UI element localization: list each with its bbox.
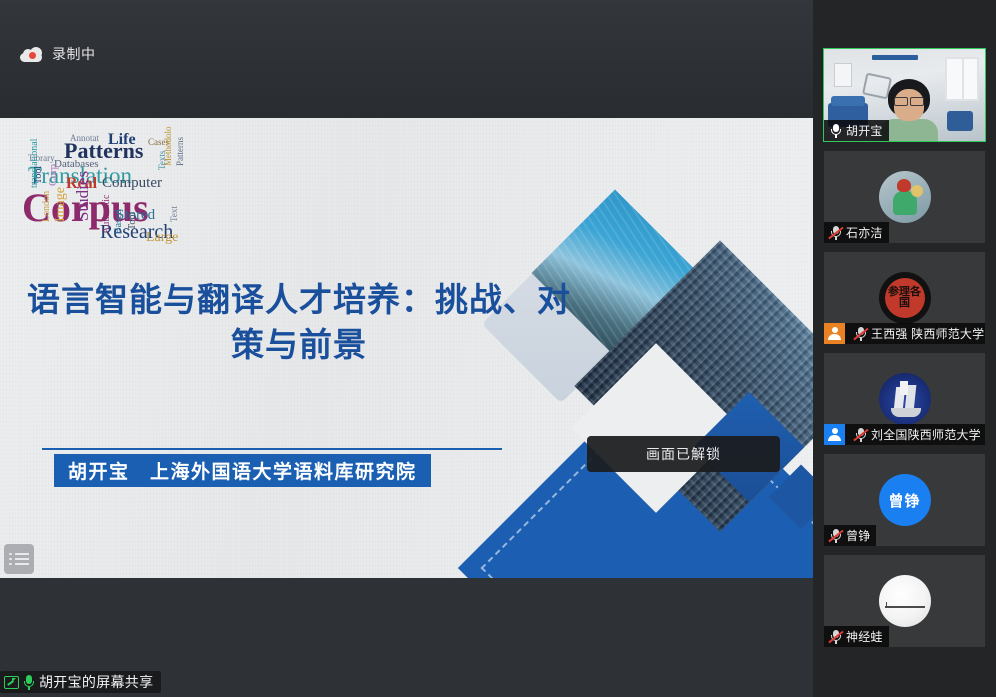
microphone-muted-icon <box>829 225 842 240</box>
wordcloud-word: Corp <box>48 164 59 186</box>
cloud-record-icon <box>20 47 42 62</box>
presentation-slide: CorpusTranslationPatternsResearchRealCom… <box>0 118 813 578</box>
participant-tile[interactable]: 参理各国 王西强 陕西师范大学 <box>824 252 985 344</box>
participant-avatar <box>879 171 931 223</box>
screen-share-status-bar: 胡开宝的屏幕共享 <box>0 671 161 693</box>
wordcloud-word: Studies <box>74 171 91 221</box>
wordcloud-word: London <box>42 191 52 222</box>
wordcloud-word: Annotat <box>70 134 99 143</box>
wordcloud-word: Computer <box>102 176 162 191</box>
participant-avatar <box>879 373 931 425</box>
seal-avatar-text: 参理各国 <box>885 287 925 309</box>
participant-tile[interactable]: 石亦洁 <box>824 151 985 243</box>
screen-share-label: 胡开宝的屏幕共享 <box>39 672 153 692</box>
participant-tile[interactable]: 胡开宝 <box>824 49 985 141</box>
participant-name: 石亦洁 <box>846 224 883 241</box>
participant-name-bar: 石亦洁 <box>824 222 889 243</box>
avatar-initials: 曾铮 <box>888 490 920 511</box>
participant-name: 曾铮 <box>846 527 870 544</box>
slide-title: 语言智能与翻译人才培养：挑战、对策与前景 <box>14 278 584 367</box>
list-outline-icon <box>9 551 29 567</box>
participant-tile[interactable]: 曾铮 曾铮 <box>824 454 985 546</box>
presenter-divider <box>42 448 502 450</box>
wordcloud-word: Life <box>108 132 136 148</box>
wordcloud-word: Patterns <box>176 137 185 166</box>
microphone-icon <box>23 675 35 690</box>
microphone-muted-icon <box>829 528 842 543</box>
microphone-muted-icon <box>829 629 842 644</box>
participant-name: 胡开宝 <box>846 122 883 139</box>
slide-outline-button[interactable] <box>4 544 34 574</box>
microphone-muted-icon <box>854 427 867 442</box>
screen-unlocked-toast: 画面已解锁 <box>587 436 780 472</box>
participant-avatar: 参理各国 <box>879 272 931 324</box>
wordcloud-word: Tool <box>128 212 138 230</box>
microphone-on-icon <box>829 123 842 138</box>
corpus-word-cloud: CorpusTranslationPatternsResearchRealCom… <box>18 126 213 266</box>
participant-tile[interactable]: 刘全国陕西师范大学 <box>824 353 985 445</box>
bottom-letterbox-area: 胡开宝的屏幕共享 <box>0 578 813 697</box>
host-badge-icon <box>824 424 845 445</box>
screen-share-icon <box>4 676 19 689</box>
wordcloud-word: Large <box>146 231 178 245</box>
wordcloud-word: Authentic <box>102 195 112 234</box>
participant-tile[interactable]: 神经蛙 <box>824 555 985 647</box>
meeting-window: 录制中 CorpusTranslationPatternsResearchRea… <box>0 0 996 697</box>
cohost-badge-icon <box>824 323 845 344</box>
wordcloud-word: Databases <box>54 159 99 170</box>
recording-label: 录制中 <box>52 44 96 64</box>
participant-name: 王西强 陕西师范大学 <box>871 325 984 342</box>
microphone-muted-icon <box>854 326 867 341</box>
shared-screen-area[interactable]: CorpusTranslationPatternsResearchRealCom… <box>0 118 813 578</box>
participant-name-bar: 神经蛙 <box>824 626 889 647</box>
wordcloud-word: Text <box>170 206 179 222</box>
participant-name: 刘全国陕西师范大学 <box>871 426 981 443</box>
recording-indicator[interactable]: 录制中 <box>20 44 96 64</box>
participant-avatar <box>879 575 931 627</box>
participant-name: 神经蛙 <box>846 628 883 645</box>
participant-avatar: 曾铮 <box>879 474 931 526</box>
wordcloud-word: Tool <box>34 166 44 184</box>
participant-name-bar: 曾铮 <box>824 525 876 546</box>
participant-name-bar: 胡开宝 <box>824 120 889 141</box>
top-bar: 录制中 <box>0 0 813 118</box>
participant-name-bar: 刘全国陕西师范大学 <box>824 424 985 445</box>
presenter-banner: 胡开宝 上海外国语大学语料库研究院 <box>54 454 431 487</box>
wordcloud-word: Texts <box>158 151 167 170</box>
participant-name-bar: 王西强 陕西师范大学 <box>824 323 985 344</box>
wordcloud-word: Image <box>54 187 68 222</box>
wordcloud-word: Based <box>114 210 124 234</box>
participant-strip[interactable]: 胡开宝 石亦洁 参理各国 <box>813 0 996 697</box>
